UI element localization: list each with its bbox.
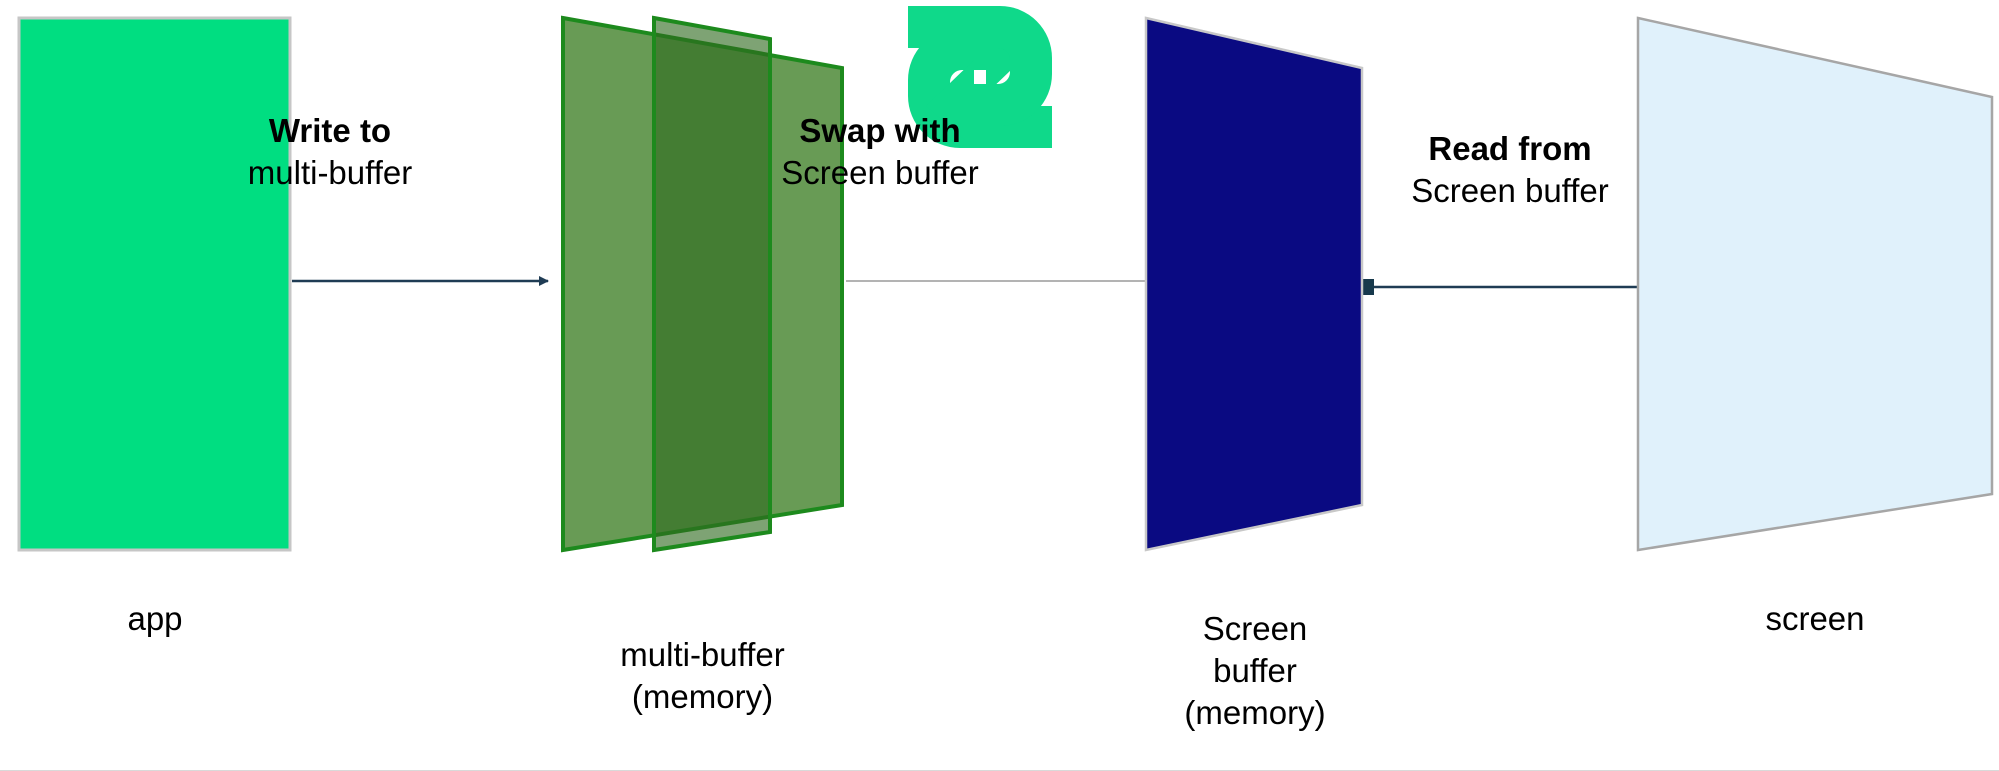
connector-label-write-to: Write to multi-buffer [180,110,480,194]
connector-label-read-from: Read from Screen buffer [1340,128,1680,212]
connector-label-swap-with: Swap with Screen buffer [710,110,1050,194]
write-to-bold-text: Write to [180,110,480,152]
swap-with-plain-text: Screen buffer [710,152,1050,194]
caption-screen-buffer-line-2: buffer [1100,650,1410,692]
app-shape [19,18,290,550]
caption-multi-buffer-line-2: (memory) [545,676,860,718]
connector-read-from [1356,279,1640,295]
caption-screen-buffer-line-1: Screen [1100,608,1410,650]
read-from-plain-text: Screen buffer [1340,170,1680,212]
read-from-bold-text: Read from [1340,128,1680,170]
multi-buffer-front-sheet [654,18,770,550]
write-to-plain-text: multi-buffer [180,152,480,194]
caption-multi-buffer-line-1: multi-buffer [545,634,860,676]
caption-app-line-1: app [5,598,305,640]
caption-app: app [5,598,305,640]
buffering-flow-diagram: Write to multi-buffer Swap with Screen b… [0,0,1999,771]
swap-with-bold-text: Swap with [710,110,1050,152]
caption-screen-buffer: Screen buffer (memory) [1100,608,1410,735]
caption-multi-buffer: multi-buffer (memory) [545,634,860,718]
screen-buffer-shape [1146,18,1362,550]
caption-screen-buffer-line-3: (memory) [1100,692,1410,734]
screen-shape [1638,18,1992,550]
caption-screen-line-1: screen [1665,598,1965,640]
caption-screen: screen [1665,598,1965,640]
